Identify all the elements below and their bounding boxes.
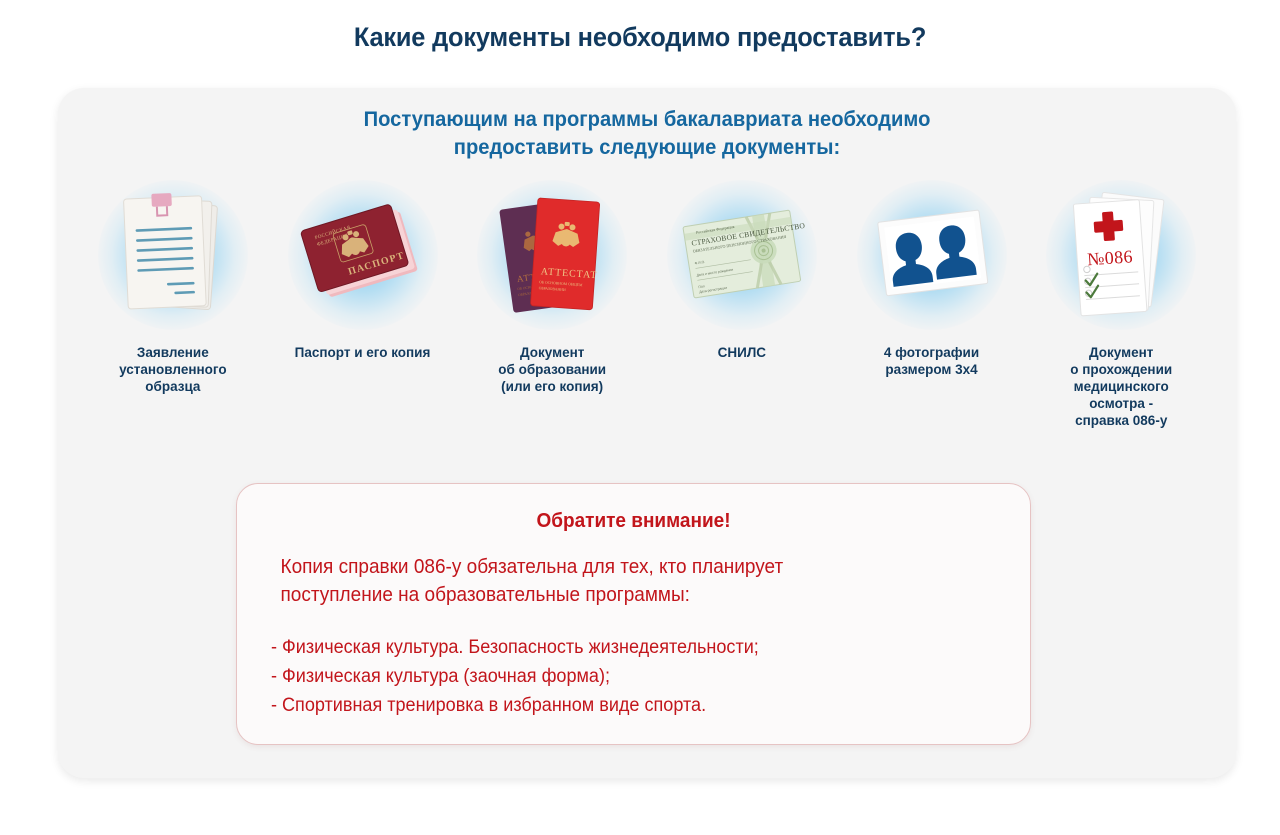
documents-row: Заявление установленного образца [78,180,1216,429]
document-item-application: Заявление установленного образца [78,180,268,395]
document-caption: Документ о прохождении медицинского осмо… [1070,344,1172,429]
document-caption: 4 фотографии размером 3х4 [884,344,979,378]
document-stack-art [93,180,253,330]
photos-3x4-icon [862,196,1002,314]
warning-title: Обратите внимание! [289,510,978,533]
warning-lead-line-2: поступление на образовательные программы… [281,581,960,609]
document-caption: Заявление установленного образца [119,344,226,395]
document-caption: СНИЛС [718,344,766,361]
warning-program-list: - Физическая культура. Безопасность жизн… [271,633,960,720]
certificates-art: АТТЕСТАТ ОБ ОСНОВНОМ ОБЩЕМ ОБРАЗОВАНИИ [472,180,632,330]
medical-form-086-icon: №086 [1055,185,1187,325]
infographic-page: Какие документы необходимо предоставить?… [0,0,1280,835]
snils-card-icon: Российская Федерация СТРАХОВОЕ СВИДЕТЕЛЬ… [666,194,818,316]
document-stack-icon [114,187,232,323]
main-card: Поступающим на программы бакалавриата не… [58,88,1236,778]
photos-art [852,180,1012,330]
card-subtitle-line-2: предоставить следующие документы: [82,134,1213,162]
medical-form-art: №086 [1041,180,1201,330]
passport-icon: РОССИЙСКАЯ ФЕДЕРАЦИЯ [288,194,438,316]
document-item-photos: 4 фотографии размером 3х4 [837,180,1027,378]
document-caption: Документ об образовании (или его копия) [498,344,606,395]
warning-list-item: - Физическая культура (заочная форма); [271,662,960,691]
svg-text:№086: №086 [1087,246,1134,269]
warning-list-item: - Физическая культура. Безопасность жизн… [271,633,960,662]
page-title: Какие документы необходимо предоставить? [38,22,1241,53]
warning-box: Обратите внимание! Копия справки 086-у о… [236,483,1031,745]
document-caption: Паспорт и его копия [295,344,431,361]
card-subtitle: Поступающим на программы бакалавриата не… [82,106,1213,162]
warning-lead-line-1: Копия справки 086-у обязательна для тех,… [281,553,960,581]
diploma-certificates-icon: АТТЕСТАТ ОБ ОСНОВНОМ ОБЩЕМ ОБРАЗОВАНИИ [482,185,622,325]
document-item-education: АТТЕСТАТ ОБ ОСНОВНОМ ОБЩЕМ ОБРАЗОВАНИИ [457,180,647,395]
snils-art: Российская Федерация СТРАХОВОЕ СВИДЕТЕЛЬ… [662,180,822,330]
passport-art: РОССИЙСКАЯ ФЕДЕРАЦИЯ [283,180,443,330]
card-subtitle-line-1: Поступающим на программы бакалавриата не… [82,106,1213,134]
document-item-snils: Российская Федерация СТРАХОВОЕ СВИДЕТЕЛЬ… [647,180,837,361]
document-item-medical: №086 [1026,180,1216,429]
document-item-passport: РОССИЙСКАЯ ФЕДЕРАЦИЯ [268,180,458,361]
warning-list-item: - Спортивная тренировка в избранном виде… [271,691,960,720]
warning-lead: Копия справки 086-у обязательна для тех,… [271,553,960,609]
